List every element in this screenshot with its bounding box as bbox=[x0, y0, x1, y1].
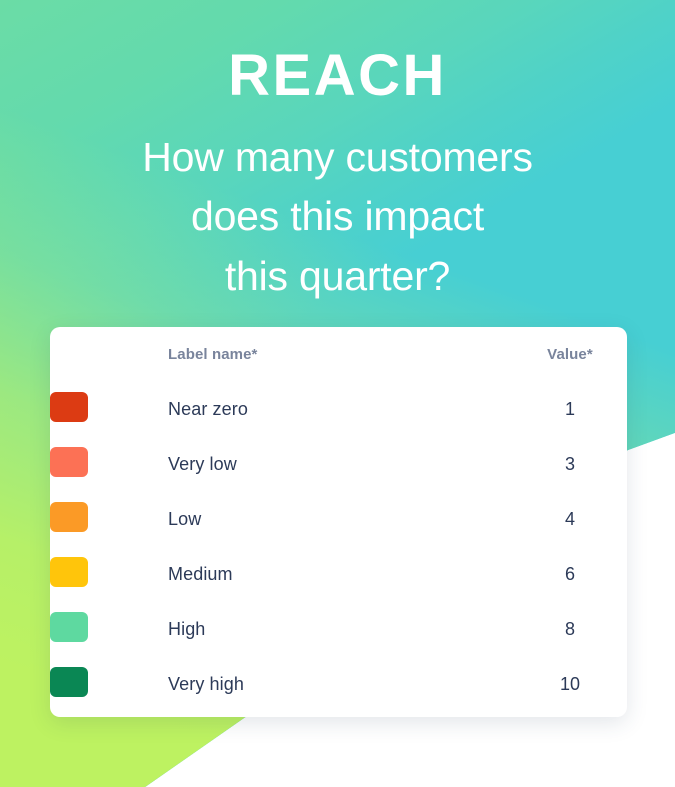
table-row[interactable]: Near zero 1 bbox=[50, 382, 627, 437]
column-header-swatch bbox=[50, 327, 168, 382]
table-row[interactable]: Very high 10 bbox=[50, 657, 627, 712]
table-row[interactable]: Medium 6 bbox=[50, 547, 627, 602]
swatch-cell[interactable] bbox=[50, 492, 168, 547]
table-header-row: Label name* Value* bbox=[50, 327, 627, 382]
row-label[interactable]: Low bbox=[168, 492, 513, 547]
swatch-cell[interactable] bbox=[50, 437, 168, 492]
row-value[interactable]: 10 bbox=[513, 657, 627, 712]
page-title: REACH bbox=[0, 0, 675, 108]
color-swatch-icon[interactable] bbox=[50, 612, 88, 642]
row-value[interactable]: 6 bbox=[513, 547, 627, 602]
hero-section: REACH How many customers does this impac… bbox=[0, 0, 675, 306]
page-subtitle: How many customers does this impact this… bbox=[0, 108, 675, 306]
swatch-cell[interactable] bbox=[50, 657, 168, 712]
color-swatch-icon[interactable] bbox=[50, 392, 88, 422]
subtitle-line-1: How many customers bbox=[0, 128, 675, 187]
color-swatch-icon[interactable] bbox=[50, 502, 88, 532]
page-root: REACH How many customers does this impac… bbox=[0, 0, 675, 787]
row-value[interactable]: 8 bbox=[513, 602, 627, 657]
row-value[interactable]: 4 bbox=[513, 492, 627, 547]
row-label[interactable]: High bbox=[168, 602, 513, 657]
table-row[interactable]: High 8 bbox=[50, 602, 627, 657]
row-value[interactable]: 3 bbox=[513, 437, 627, 492]
table-header: Label name* Value* bbox=[50, 327, 627, 382]
swatch-cell[interactable] bbox=[50, 602, 168, 657]
row-label[interactable]: Very high bbox=[168, 657, 513, 712]
row-label[interactable]: Near zero bbox=[168, 382, 513, 437]
swatch-cell[interactable] bbox=[50, 547, 168, 602]
subtitle-line-3: this quarter? bbox=[0, 247, 675, 306]
swatch-cell[interactable] bbox=[50, 382, 168, 437]
row-label[interactable]: Medium bbox=[168, 547, 513, 602]
color-swatch-icon[interactable] bbox=[50, 667, 88, 697]
column-header-label-name: Label name* bbox=[168, 327, 513, 382]
subtitle-line-2: does this impact bbox=[0, 187, 675, 246]
color-swatch-icon[interactable] bbox=[50, 557, 88, 587]
table-row[interactable]: Very low 3 bbox=[50, 437, 627, 492]
label-value-table: Label name* Value* Near zero 1 Very lo bbox=[50, 327, 627, 712]
table-row[interactable]: Low 4 bbox=[50, 492, 627, 547]
color-swatch-icon[interactable] bbox=[50, 447, 88, 477]
row-value[interactable]: 1 bbox=[513, 382, 627, 437]
label-table-card: Label name* Value* Near zero 1 Very lo bbox=[50, 327, 627, 717]
column-header-value: Value* bbox=[513, 327, 627, 382]
row-label[interactable]: Very low bbox=[168, 437, 513, 492]
table-body: Near zero 1 Very low 3 Low 4 bbox=[50, 382, 627, 712]
